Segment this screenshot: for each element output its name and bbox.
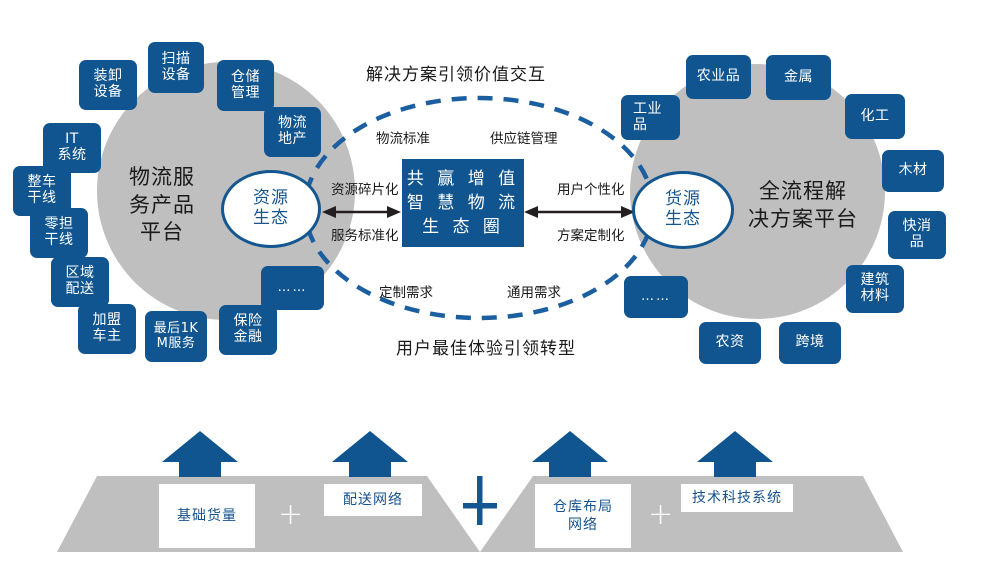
chip-line-2: 干线 [28,191,57,207]
chip-warehouse-mgmt[interactable]: 仓储 管理 [217,60,274,111]
foundation-line-1: 配送网络 [343,491,403,509]
chip-line-2: 车主 [93,329,122,345]
core-line-3: 生 态 圈 [422,215,504,239]
chip-line-2: 品 [633,118,677,134]
chip-line-2: 设备 [162,68,191,84]
up-arrow-1 [162,431,238,477]
center-plus-icon [463,476,497,525]
chip-line-1: 跨境 [796,335,825,351]
chip-line-1: 加盟 [93,313,122,329]
chip-line-1: 快消 [903,219,932,235]
chip-line-1: 农业品 [697,69,741,85]
right-exchange-arrow [524,206,635,218]
chip-loading-equipment[interactable]: 装卸 设备 [79,60,137,110]
core-line-1: 共 赢 增 值 [407,167,519,191]
chip-line-2: 金融 [234,330,263,346]
ring-label-top-left: 物流标准 [376,127,430,147]
chip-fmcg[interactable]: 快消 品 [888,211,946,259]
chip-line-1: 保险 [234,314,263,330]
left-platform-line-2: 务产品 [107,192,217,220]
chip-line-1: 扫描 [162,52,191,68]
ring-label-bottom-right: 通用需求 [507,281,561,301]
up-arrow-4 [697,431,773,477]
right-platform-caption: 全流程解 决方案平台 [730,178,876,233]
chip-line-1: IT [58,132,87,148]
chip-scan-equipment[interactable]: 扫描 设备 [148,42,204,93]
chip-line-1: 仓储 [231,70,260,86]
bottom-caption: 用户最佳体验引领转型 [396,334,576,359]
chip-line-1: 最后1K [154,322,199,337]
core-line-2: 智 慧 物 流 [407,191,519,215]
arrow-label-left-above: 资源碎片化 [331,178,399,198]
chip-timber[interactable]: 木材 [882,150,944,192]
chip-metal[interactable]: 金属 [766,55,831,100]
chip-line-1: 零担 [45,217,74,233]
arrow-label-right-below: 方案定制化 [557,224,625,244]
ring-label-bottom-left: 定制需求 [379,281,433,301]
foundation-line-1: 基础货量 [177,507,237,525]
core-ecosystem-box[interactable]: 共 赢 增 值 智 慧 物 流 生 态 圈 [402,159,524,247]
foundation-up-arrows [162,431,773,477]
resource-node-line-1: 资源 [253,189,289,209]
chip-industrial-products[interactable]: 工业 品 [621,95,680,140]
chip-line-1: 化工 [861,109,890,125]
foundation-warehouse-layout-network[interactable]: 仓库布局 网络 [535,484,631,548]
chip-line-1: 木材 [899,163,928,179]
chip-insurance-finance[interactable]: 保险 金融 [219,305,277,355]
chip-line-2: M服务 [154,337,199,352]
chip-line-2: 地产 [278,132,307,148]
chip-line-1: 金属 [784,70,813,86]
up-arrow-2 [332,431,408,477]
chip-line-2: 设备 [94,85,123,101]
right-platform-line-2: 决方案平台 [730,206,876,234]
chip-line-2: 材料 [861,289,890,305]
foundation-delivery-network[interactable]: 配送网络 [324,484,422,516]
chip-regional-delivery[interactable]: 区域 配送 [51,257,109,307]
resource-ecosystem-node[interactable]: 资源 生态 [221,170,321,248]
chip-line-1: 建筑 [861,273,890,289]
chip-agriculture-products[interactable]: 农业品 [686,55,751,99]
chip-line-2: 品 [903,235,932,251]
chip-building-materials[interactable]: 建筑 材料 [846,265,904,313]
chip-line-1: 物流 [278,116,307,132]
foundation-line-1: 仓库布局 [553,498,613,516]
chip-line-1: 区域 [66,266,95,282]
chip-line-1: 整车 [28,175,57,191]
foundation-line-1: 技术科技系统 [692,489,782,507]
ring-label-top-right: 供应链管理 [490,127,558,147]
arrow-label-right-above: 用户个性化 [557,178,625,198]
chip-line-1: 工业 [633,102,677,118]
left-platform-caption: 物流服 务产品 平台 [107,164,217,247]
chip-cross-border[interactable]: 跨境 [779,322,841,364]
chip-chemical[interactable]: 化工 [845,94,905,139]
foundation-technology-system[interactable]: 技术科技系统 [681,484,793,512]
chip-ltl-trunk[interactable]: 零担 干线 [30,208,88,258]
foundation-line-2: 网络 [553,516,613,534]
top-caption: 解决方案引领价值交互 [366,60,546,85]
cargo-node-line-1: 货源 [665,190,701,210]
chip-line-2: 干线 [45,233,74,249]
chip-line-1: 装卸 [94,69,123,85]
chip-line-1: …… [641,290,671,305]
resource-node-line-2: 生态 [253,209,289,229]
chip-line-1: 农资 [716,335,745,351]
diagram-canvas: 物流服 务产品 平台 全流程解 决方案平台 资源 生态 货源 生态 共 赢 增 … [0,0,985,582]
chip-last-1km-service[interactable]: 最后1K M服务 [145,311,207,362]
chip-franchise-driver[interactable]: 加盟 车主 [78,304,136,354]
chip-line-1: …… [278,281,308,296]
chip-logistics-realestate[interactable]: 物流 地产 [264,107,321,157]
chip-agri-supplies[interactable]: 农资 [699,322,761,364]
left-exchange-arrow [322,206,401,218]
right-platform-line-1: 全流程解 [730,178,876,206]
chip-line-2: 配送 [66,282,95,298]
left-platform-line-3: 平台 [107,219,217,247]
chip-line-2: 管理 [231,86,260,102]
cargo-node-line-2: 生态 [665,210,701,230]
foundation-plus-1: + [278,500,303,530]
left-platform-line-1: 物流服 [107,164,217,192]
chip-more-left[interactable]: …… [261,266,324,310]
chip-line-2: 系统 [58,148,87,164]
up-arrow-3 [532,431,608,477]
arrow-label-left-below: 服务标准化 [331,224,399,244]
foundation-base-volume[interactable]: 基础货量 [159,484,255,548]
chip-more-right[interactable]: …… [624,276,688,318]
foundation-plus-2: + [648,500,673,530]
cargo-ecosystem-node[interactable]: 货源 生态 [632,171,734,249]
